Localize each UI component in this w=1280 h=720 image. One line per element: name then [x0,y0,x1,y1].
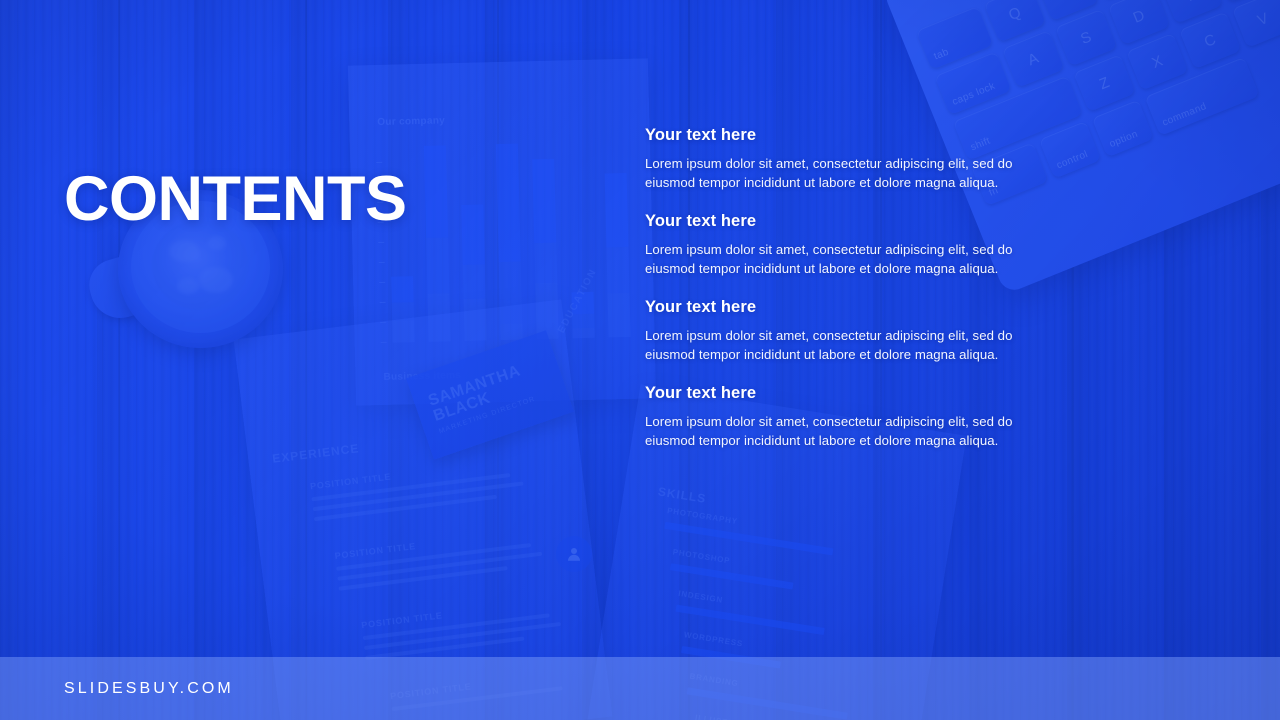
content-block: Your text here Lorem ipsum dolor sit ame… [645,212,1057,278]
content-block: Your text here Lorem ipsum dolor sit ame… [645,126,1057,192]
footer-brand: SLIDESBUY.COM [64,680,234,698]
page-title: CONTENTS [64,168,407,231]
content-block-body: Lorem ipsum dolor sit amet, consectetur … [645,240,1057,278]
footer-bar: SLIDESBUY.COM [0,657,1280,720]
content-blocks: Your text here Lorem ipsum dolor sit ame… [645,126,1057,450]
content-block: Your text here Lorem ipsum dolor sit ame… [645,384,1057,450]
content-block-body: Lorem ipsum dolor sit amet, consectetur … [645,154,1057,192]
content-block: Your text here Lorem ipsum dolor sit ame… [645,298,1057,364]
slide-canvas: tab Q W E R T Y caps lock A S D F G H sh… [0,0,1280,720]
content-block-body: Lorem ipsum dolor sit amet, consectetur … [645,326,1057,364]
slide-content: CONTENTS Your text here Lorem ipsum dolo… [0,0,1280,720]
content-block-title: Your text here [645,126,1057,145]
content-block-title: Your text here [645,212,1057,231]
content-block-body: Lorem ipsum dolor sit amet, consectetur … [645,412,1057,450]
content-block-title: Your text here [645,298,1057,317]
content-block-title: Your text here [645,384,1057,403]
